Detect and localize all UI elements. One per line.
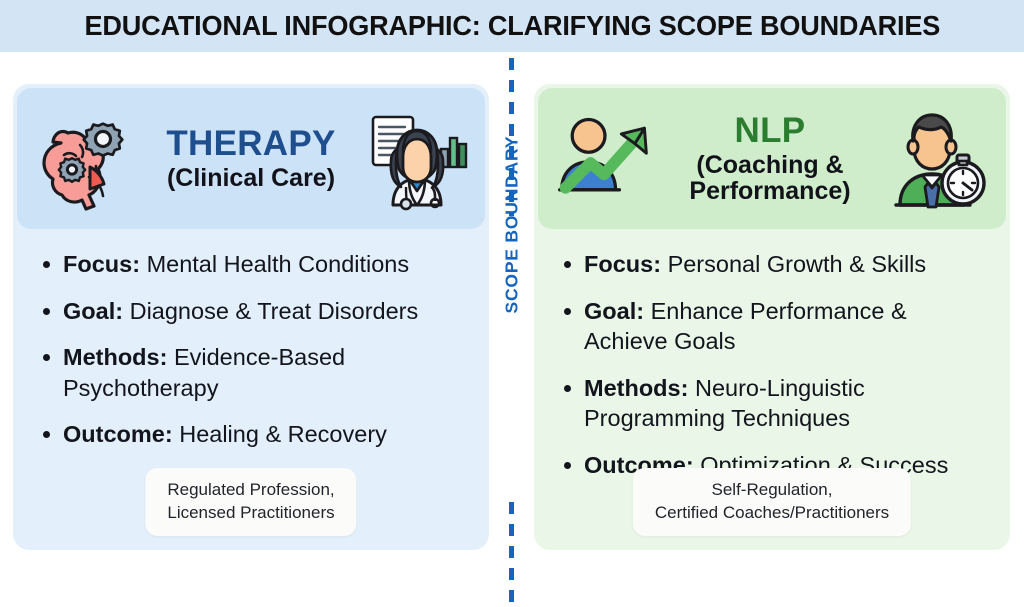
divider-dashes-bottom xyxy=(509,502,514,607)
bullet-value: Diagnose & Treat Disorders xyxy=(130,298,419,324)
panel-therapy-title: THERAPY xyxy=(143,126,359,162)
note-line-2: Certified Coaches/Practitioners xyxy=(655,502,889,525)
note-line-1: Regulated Profession, xyxy=(167,479,334,502)
bullet-focus: Focus: Personal Growth & Skills xyxy=(562,249,992,280)
bullet-label: Methods: xyxy=(584,375,688,401)
infographic-page: EDUCATIONAL INFOGRAPHIC: CLARIFYING SCOP… xyxy=(0,0,1024,559)
bullet-outcome: Outcome: Healing & Recovery xyxy=(41,419,471,450)
divider-label: SCOPE BOUNDARY xyxy=(502,208,523,314)
bullet-goal: Goal: Enhance Performance & Achieve Goal… xyxy=(562,296,992,357)
scope-boundary-divider: SCOPE BOUNDARY xyxy=(505,52,519,559)
panel-therapy-header: THERAPY (Clinical Care) xyxy=(17,88,485,229)
panel-therapy: THERAPY (Clinical Care) xyxy=(13,84,489,550)
bullet-value: Mental Health Conditions xyxy=(147,251,410,277)
bullet-methods: Methods: Neuro-Linguistic Programming Te… xyxy=(562,373,992,434)
bullet-label: Goal: xyxy=(63,298,123,324)
page-title: EDUCATIONAL INFOGRAPHIC: CLARIFYING SCOP… xyxy=(84,10,940,42)
note-line-1: Self-Regulation, xyxy=(655,479,889,502)
bullet-label: Goal: xyxy=(584,298,644,324)
panel-therapy-note: Regulated Profession, Licensed Practitio… xyxy=(145,468,356,536)
panel-nlp: NLP (Coaching & Performance) xyxy=(534,84,1010,550)
title-band: EDUCATIONAL INFOGRAPHIC: CLARIFYING SCOP… xyxy=(0,0,1024,52)
bullet-value: Personal Growth & Skills xyxy=(668,251,927,277)
female-doctor-icon xyxy=(363,105,471,213)
panel-nlp-header: NLP (Coaching & Performance) xyxy=(538,88,1006,229)
panel-nlp-subtitle: (Coaching & Performance) xyxy=(660,152,880,204)
panel-nlp-titles: NLP (Coaching & Performance) xyxy=(656,113,884,203)
bullet-goal: Goal: Diagnose & Treat Disorders xyxy=(41,296,471,327)
brain-gears-icon xyxy=(31,105,139,213)
panel-nlp-title: NLP xyxy=(660,113,880,149)
bullet-label: Outcome: xyxy=(63,421,173,447)
bullet-label: Focus: xyxy=(63,251,140,277)
male-coach-stopwatch-icon xyxy=(884,105,992,213)
bullet-label: Focus: xyxy=(584,251,661,277)
bullet-label: Methods: xyxy=(63,344,167,370)
panel-nlp-note: Self-Regulation, Certified Coaches/Pract… xyxy=(633,468,911,536)
panel-therapy-bullets: Focus: Mental Health Conditions Goal: Di… xyxy=(13,229,489,450)
bullet-value: Healing & Recovery xyxy=(179,421,387,447)
note-line-2: Licensed Practitioners xyxy=(167,502,334,525)
panel-therapy-titles: THERAPY (Clinical Care) xyxy=(139,126,363,190)
person-growth-arrow-icon xyxy=(552,107,656,211)
panel-therapy-subtitle: (Clinical Care) xyxy=(143,165,359,191)
bullet-methods: Methods: Evidence-Based Psychotherapy xyxy=(41,342,471,403)
panel-nlp-bullets: Focus: Personal Growth & Skills Goal: En… xyxy=(534,229,1010,480)
bullet-focus: Focus: Mental Health Conditions xyxy=(41,249,471,280)
